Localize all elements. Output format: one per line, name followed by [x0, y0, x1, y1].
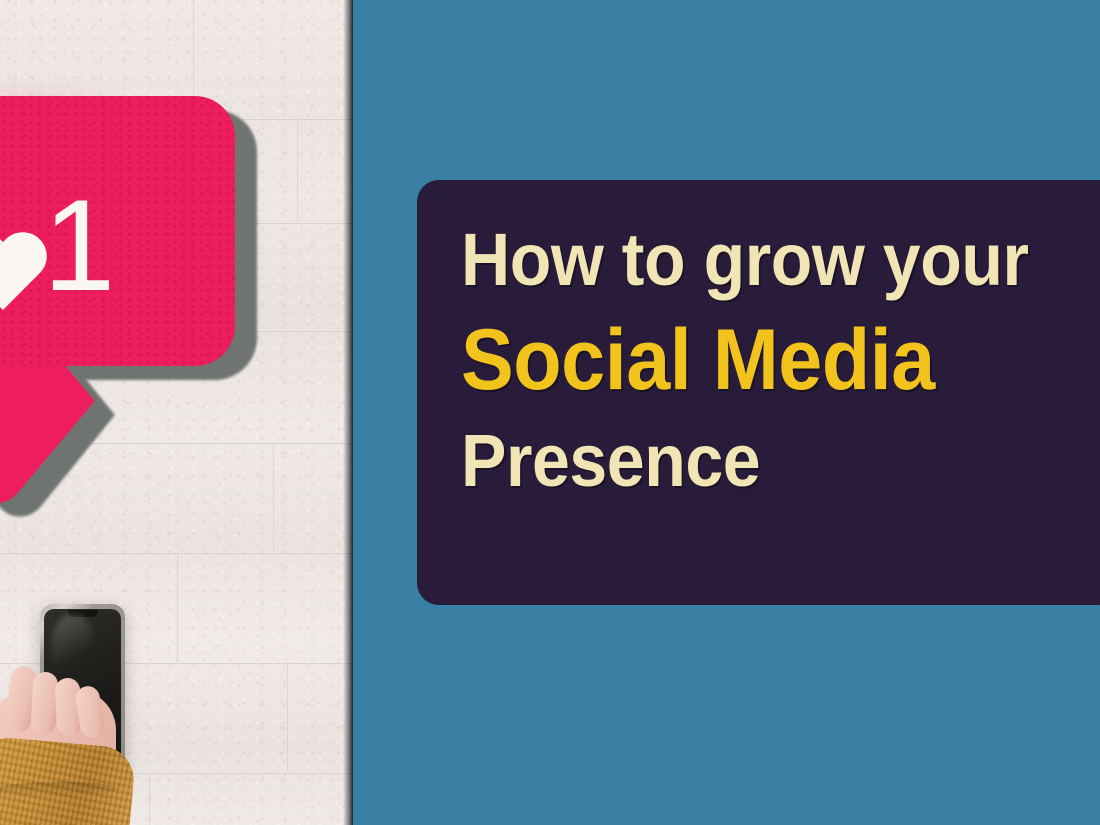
mortar-line-vertical: [286, 662, 289, 772]
photo-edge-shadow: [343, 0, 353, 825]
title-card: How to grow your Social Media Presence: [417, 180, 1100, 605]
like-count-label: 1: [43, 180, 115, 310]
hero-photo: 1: [0, 0, 353, 825]
title-line-2-highlight: Social Media: [461, 317, 1067, 405]
graffiti-like-notification: 1: [0, 88, 285, 478]
finger: [30, 671, 58, 734]
sleeve-fold: [0, 781, 119, 799]
sleeve-fold: [0, 819, 115, 825]
title-line-3: Presence: [461, 423, 1067, 498]
heart-icon: [0, 200, 15, 284]
mortar-line-vertical: [176, 552, 179, 662]
title-line-1: How to grow your: [461, 222, 1067, 297]
slide-canvas: 1 How to grow your Social Media Presence: [0, 0, 1100, 825]
mortar-line-vertical: [148, 772, 151, 825]
spray-paint-grain: [0, 96, 235, 366]
knit-sweater-sleeve: [0, 736, 136, 825]
mortar-line-vertical: [296, 118, 299, 222]
